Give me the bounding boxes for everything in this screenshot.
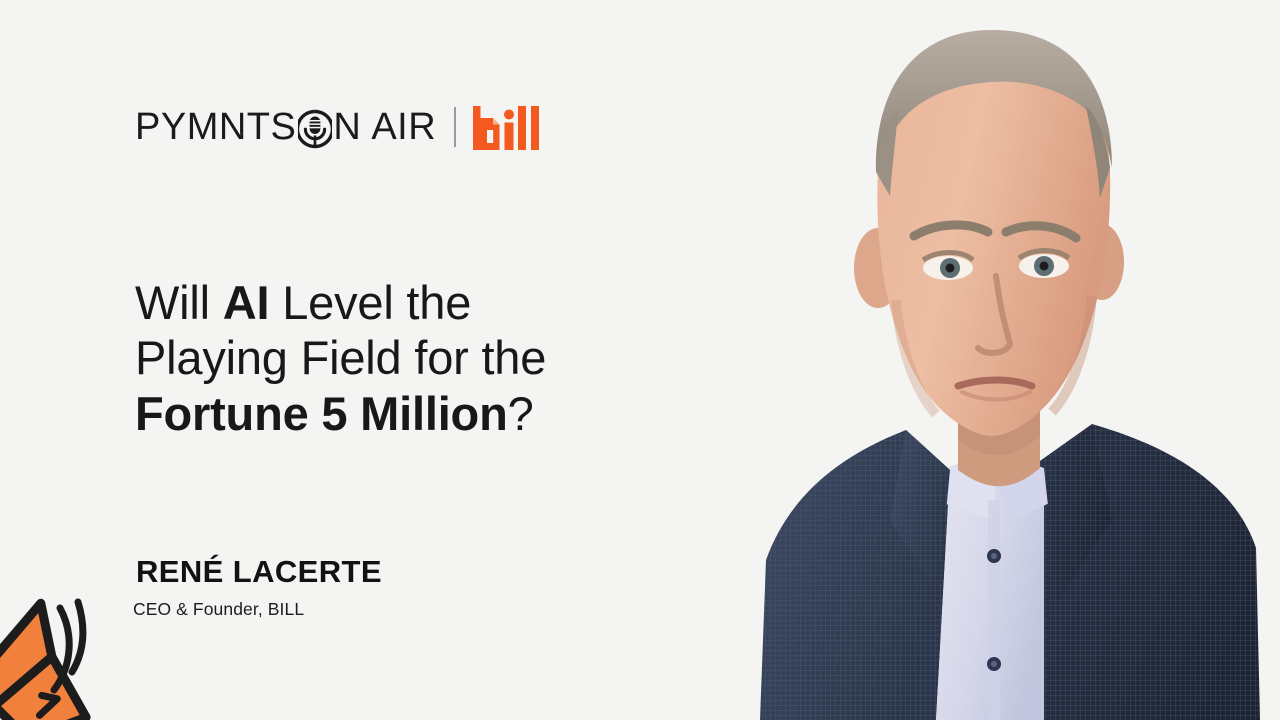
brand-logo-lockup[interactable]: PYMNTS N AIR (135, 103, 539, 151)
episode-headline: Will AI Level the Playing Field for the … (135, 275, 695, 441)
headline-question-mark: ? (508, 387, 534, 440)
pymnts-wordmark: PYMNTS (135, 108, 296, 146)
headline-line-2: Playing Field for the (135, 331, 546, 384)
headline-emphasis-fortune: Fortune 5 Million (135, 387, 508, 440)
headline-text: Will (135, 276, 223, 329)
headline-line-1: Will AI Level the (135, 276, 471, 329)
episode-title-card: PYMNTS N AIR (0, 0, 1280, 720)
headline-emphasis-ai: AI (223, 276, 270, 329)
speaker-name: RENÉ LACERTE (136, 556, 382, 587)
headline-text: Level the (269, 276, 471, 329)
logo-divider (454, 107, 456, 147)
speaker-title: CEO & Founder, BILL (133, 601, 304, 619)
on-wordmark: N (333, 108, 361, 146)
air-wordmark: AIR (371, 108, 436, 146)
microphone-icon (298, 109, 332, 149)
speaker-portrait (700, 0, 1280, 720)
bill-logo[interactable] (473, 106, 539, 150)
megaphone-icon (0, 586, 116, 720)
